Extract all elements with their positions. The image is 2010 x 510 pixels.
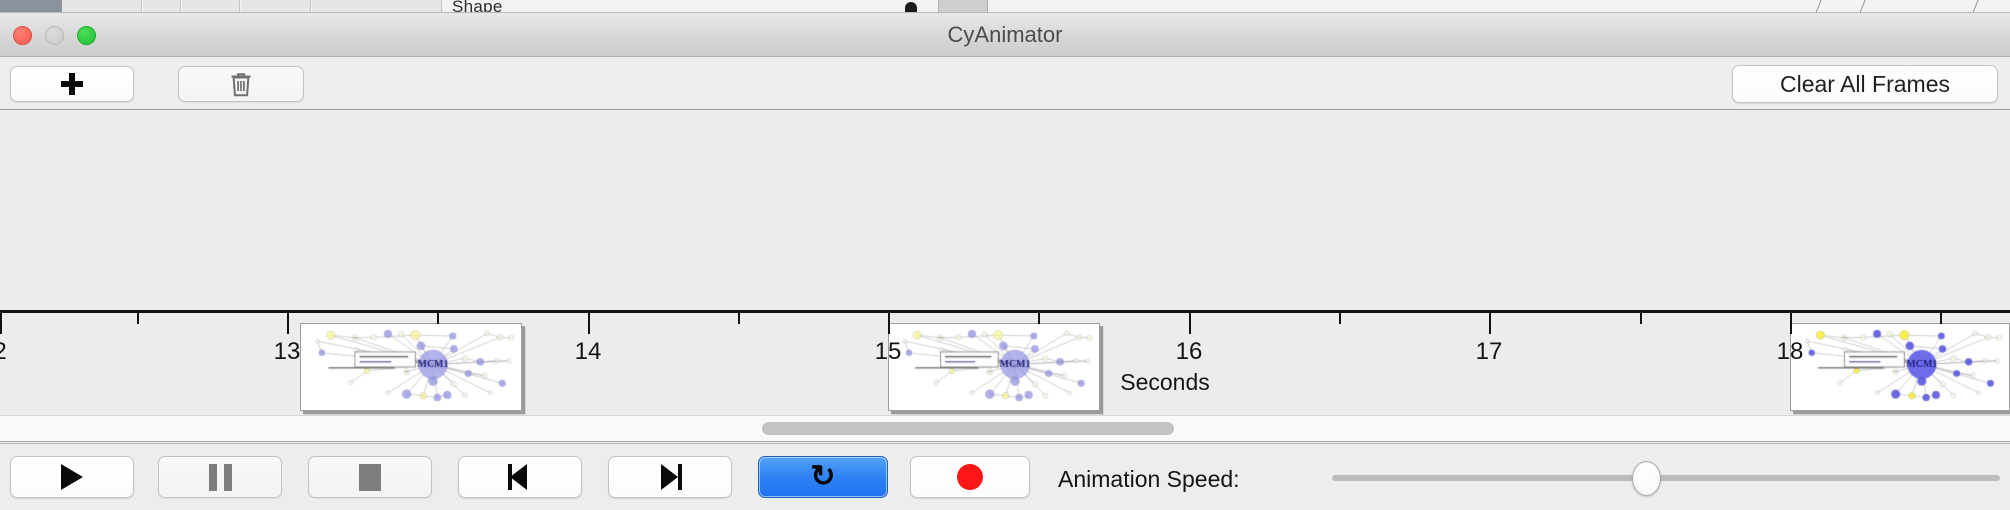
timeline-tick-16: [1189, 313, 1191, 334]
timeline-tick-label: 15: [875, 338, 902, 366]
network-graph-preview: [889, 324, 1099, 410]
trash-icon: [230, 71, 252, 97]
timeline-tick-minor: [1640, 313, 1642, 324]
timeline-tick-minor: [1339, 313, 1341, 324]
plus-icon: [61, 73, 83, 95]
window-title: CyAnimator: [0, 13, 2010, 57]
slider-thumb[interactable]: [1632, 461, 1661, 496]
timeline-tick-label: 2: [0, 338, 7, 366]
cyanimator-window: Shape CyAnimator: [0, 0, 2010, 510]
timeline-scrollbar-track[interactable]: [0, 415, 2010, 442]
background-window-tab: [0, 0, 62, 13]
background-segment: [312, 0, 442, 13]
timeline-tick-label: 16: [1176, 338, 1203, 366]
play-button[interactable]: [10, 456, 134, 498]
last-frame-button[interactable]: [608, 456, 732, 498]
playback-control-bar: ↻ Animation Speed:: [0, 443, 2010, 510]
network-graph-preview: [301, 324, 521, 410]
loop-icon: ↻: [810, 462, 835, 492]
clear-all-frames-button[interactable]: Clear All Frames: [1732, 65, 1998, 103]
add-frame-button[interactable]: [10, 66, 134, 102]
timeline-tick-minor: [1940, 313, 1942, 324]
stop-icon: [359, 464, 381, 491]
frame-toolbar: Clear All Frames: [0, 57, 2010, 110]
background-divider: [1972, 0, 1978, 13]
timeline-panel[interactable]: 2131415161718 Seconds: [0, 111, 2010, 415]
background-segment: [62, 0, 142, 13]
background-window-strip: Shape: [0, 0, 2010, 13]
delete-frame-button[interactable]: [178, 66, 304, 102]
timeline-axis-title-label: Seconds: [1120, 369, 1210, 395]
slider-track[interactable]: [1332, 475, 2000, 481]
animation-speed-label: Animation Speed:: [1058, 466, 1240, 493]
background-divider: [1859, 0, 1865, 13]
timeline-tick-label: 17: [1476, 338, 1503, 366]
window-titlebar: CyAnimator: [0, 13, 2010, 57]
timeline-tick-label: 18: [1777, 338, 1804, 366]
timeline-tick-18: [1790, 313, 1792, 334]
background-divider: [1815, 0, 1821, 13]
background-window-label: Shape: [452, 0, 503, 13]
timeline-tick-minor: [738, 313, 740, 324]
background-button: [938, 0, 988, 13]
timeline-tick-17: [1489, 313, 1491, 334]
first-frame-button[interactable]: [458, 456, 582, 498]
background-segment: [143, 0, 181, 13]
timeline-tick-13: [287, 313, 289, 334]
timeline-frame-thumbnail[interactable]: [1790, 323, 2010, 411]
timeline-frame-thumbnail[interactable]: [300, 323, 522, 411]
timeline-axis-title: Seconds: [0, 369, 2010, 396]
stop-button[interactable]: [308, 456, 432, 498]
timeline-tick-minor: [1038, 313, 1040, 324]
background-segment: [182, 0, 240, 13]
timeline-tick-15: [888, 313, 890, 334]
pause-button[interactable]: [158, 456, 282, 498]
background-segment: [241, 0, 311, 13]
record-button[interactable]: [910, 456, 1030, 498]
timeline-axis-line: [0, 310, 2010, 313]
timeline-frame-thumbnail[interactable]: [888, 323, 1100, 411]
timeline-tick-label: 14: [575, 338, 602, 366]
timeline-tick-minor: [437, 313, 439, 324]
skip-to-start-icon: [508, 464, 532, 490]
loop-button[interactable]: ↻: [758, 456, 888, 498]
play-icon: [61, 464, 83, 490]
skip-to-end-icon: [658, 464, 682, 490]
pause-icon: [209, 464, 232, 491]
clear-all-frames-label: Clear All Frames: [1780, 71, 1950, 98]
record-icon: [957, 464, 983, 490]
animation-speed-slider[interactable]: [1332, 475, 2000, 481]
timeline-tick-2: [0, 313, 2, 334]
timeline-tick-14: [588, 313, 590, 334]
timeline-tick-label: 13: [274, 338, 301, 366]
network-graph-preview: [1791, 324, 2009, 410]
background-cursor-glyph: [905, 2, 917, 13]
timeline-scrollbar-thumb[interactable]: [762, 422, 1174, 435]
timeline-tick-minor: [137, 313, 139, 324]
